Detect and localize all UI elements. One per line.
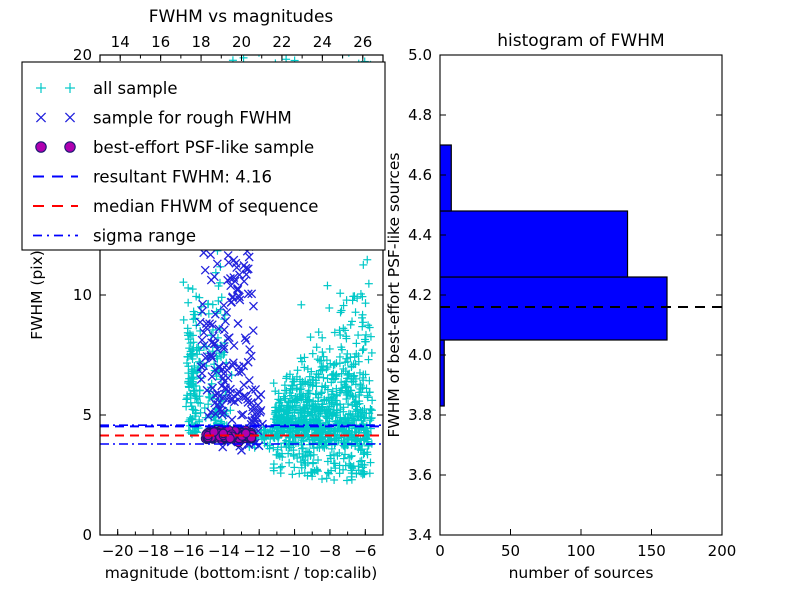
svg-text:16: 16 [151, 33, 170, 51]
svg-text:10: 10 [73, 286, 92, 304]
left-y-axis-label: FWHM (pix) [28, 250, 46, 340]
right-y-axis-label: FWHM of best-effort PSF-like sources [385, 152, 403, 437]
svg-text:4.0: 4.0 [408, 346, 432, 364]
svg-text:22: 22 [272, 33, 291, 51]
legend-item-label: resultant FWHM: 4.16 [93, 168, 272, 187]
svg-text:−18: −18 [137, 542, 169, 560]
left-x-axis-label: magnitude (bottom:isnt / top:calib) [105, 564, 378, 582]
legend: all samplesample for rough FWHMbest-effo… [22, 62, 385, 250]
svg-text:0: 0 [435, 542, 445, 560]
svg-text:−16: −16 [173, 542, 205, 560]
legend-item-label: sample for rough FWHM [93, 109, 292, 128]
svg-text:4.4: 4.4 [408, 226, 432, 244]
svg-text:26: 26 [353, 33, 372, 51]
legend-item-label: best-effort PSF-like sample [93, 138, 314, 157]
svg-text:50: 50 [501, 542, 520, 560]
figure-canvas: −20−18−16−14−12−10−8−6 14161820222426 05… [0, 0, 800, 600]
svg-text:5.0: 5.0 [408, 46, 432, 64]
svg-text:100: 100 [567, 542, 596, 560]
right-x-axis-label: number of sources [509, 564, 654, 582]
svg-text:−8: −8 [319, 542, 341, 560]
legend-item-label: sigma range [93, 227, 196, 246]
svg-text:4.8: 4.8 [408, 106, 432, 124]
right-panel-title: histogram of FWHM [497, 31, 664, 51]
svg-text:14: 14 [111, 33, 130, 51]
svg-text:20: 20 [73, 46, 92, 64]
svg-text:3.8: 3.8 [408, 406, 432, 424]
svg-text:4.6: 4.6 [408, 166, 432, 184]
svg-text:−14: −14 [208, 542, 240, 560]
svg-text:20: 20 [232, 33, 251, 51]
svg-text:−6: −6 [354, 542, 376, 560]
svg-text:−20: −20 [102, 542, 134, 560]
svg-text:24: 24 [313, 33, 332, 51]
svg-text:−12: −12 [243, 542, 275, 560]
matplotlib-figure: −20−18−16−14−12−10−8−6 14161820222426 05… [0, 0, 800, 600]
legend-item-label: all sample [93, 79, 178, 98]
svg-text:18: 18 [192, 33, 211, 51]
svg-text:3.6: 3.6 [408, 466, 432, 484]
svg-text:200: 200 [708, 542, 737, 560]
svg-text:4.2: 4.2 [408, 286, 432, 304]
svg-text:0: 0 [82, 526, 92, 544]
legend-item-label: median FHWM of sequence [93, 197, 318, 216]
svg-text:−10: −10 [279, 542, 311, 560]
svg-text:3.4: 3.4 [408, 526, 432, 544]
left-panel-title: FWHM vs magnitudes [149, 7, 334, 27]
svg-text:150: 150 [637, 542, 666, 560]
svg-text:5: 5 [82, 406, 92, 424]
